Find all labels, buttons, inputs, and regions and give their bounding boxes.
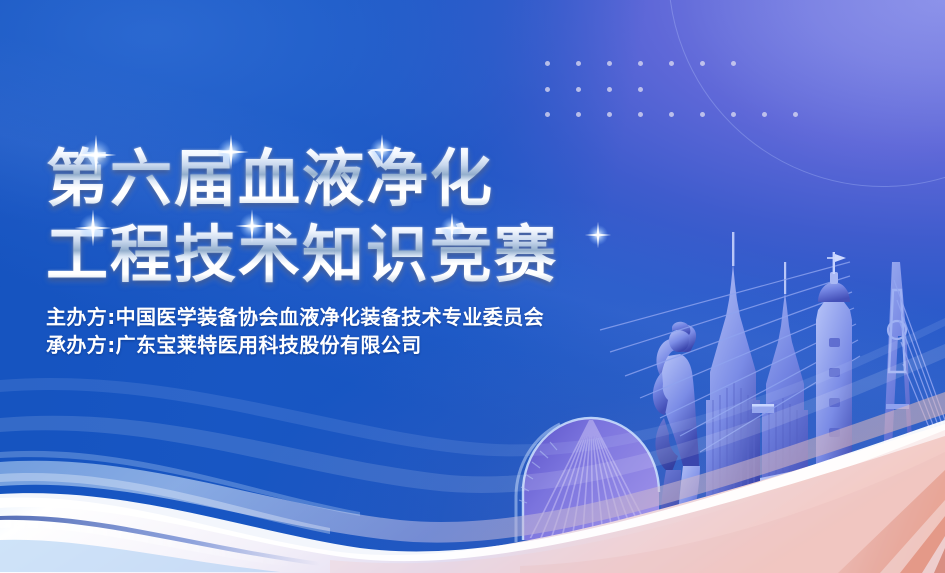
- organizer-info: 主办方:中国医学装备协会血液净化装备技术专业委员会 承办方:广东宝莱特医用科技股…: [46, 303, 544, 359]
- organizer-organization-line: 承办方:广东宝莱特医用科技股份有限公司: [46, 331, 544, 359]
- title-line-2: 工程技术知识竞赛: [46, 218, 558, 292]
- page-title: 第六届血液净化 工程技术知识竞赛: [46, 142, 558, 292]
- event-banner: 第六届血液净化 工程技术知识竞赛 主办方:中国医学装备协会血液净化装备技术专业委…: [0, 0, 945, 573]
- host-organization-line: 主办方:中国医学装备协会血液净化装备技术专业委员会: [46, 303, 544, 331]
- title-line-1: 第六届血液净化: [46, 142, 558, 216]
